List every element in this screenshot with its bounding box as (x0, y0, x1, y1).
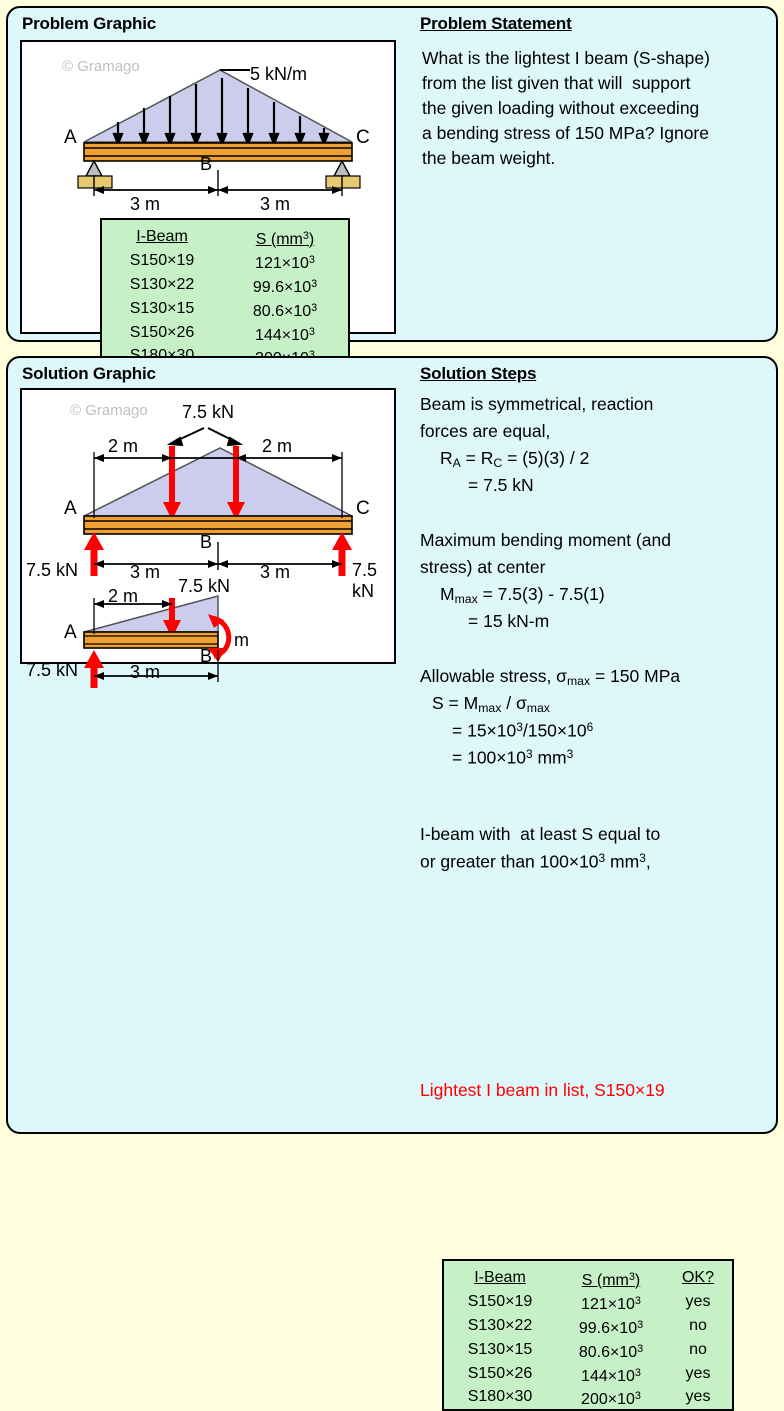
solution-panel: Solution Graphic Solution Steps © Gramag… (6, 356, 778, 1134)
solution-dim-left-3m: 3 m (130, 562, 160, 583)
solution-beam-table: I-Beam S (mm3) OK? S150×19 121×103 yes S… (442, 1259, 734, 1411)
problem-graphic-box: © Gramago (20, 40, 396, 334)
step-line-11: = 15×103/150×106 (452, 720, 593, 741)
cell-ok: yes (666, 1386, 730, 1410)
solution-dim-right-3m: 3 m (260, 562, 290, 583)
cell-s: 144×103 (222, 322, 348, 346)
cell-s: 200×103 (556, 1386, 666, 1410)
cell-ibeam: S130×22 (102, 274, 222, 298)
cell-ibeam: S150×26 (444, 1363, 556, 1387)
solution-graphic-title: Solution Graphic (22, 364, 156, 384)
step-line-3: RA = RC = (5)(3) / 2 (440, 448, 589, 470)
solution-dim-3m-2: 3 m (130, 662, 160, 683)
table-row: S130×22 99.6×103 no (444, 1315, 732, 1339)
cell-s: 99.6×103 (222, 274, 348, 298)
cell-s: 80.6×103 (556, 1339, 666, 1363)
cell-ibeam: S130×22 (444, 1315, 556, 1339)
solution-node-b-label-1: B (200, 532, 212, 553)
col-header-s: S (mm3) (556, 1267, 666, 1291)
col-header-ibeam: I-Beam (444, 1267, 556, 1291)
solution-dim-left-2m: 2 m (108, 436, 138, 457)
problem-graphic-title: Problem Graphic (22, 14, 156, 34)
table-row: S150×19 121×103 yes (444, 1291, 732, 1315)
col-header-ok: OK? (666, 1267, 730, 1291)
solution-resultant-label-1: 7.5 kN (182, 402, 234, 423)
step-line-7: Mmax = 7.5(3) - 7.5(1) (440, 584, 605, 606)
solution-node-b-label-2: B (200, 646, 212, 667)
table-row: S150×19 121×103 (102, 250, 348, 274)
problem-node-a-label: A (64, 127, 77, 149)
problem-statement-title: Problem Statement (420, 14, 572, 34)
solution-node-c-label-1: C (356, 498, 370, 520)
cell-s: 121×103 (556, 1291, 666, 1315)
step-line-10: S = Mmax / σmax (432, 693, 550, 715)
table-header-row: I-Beam S (mm3) OK? (444, 1267, 732, 1291)
cell-ibeam: S130×15 (102, 298, 222, 322)
problem-beam-table: I-Beam S (mm3) S150×19 121×103 S130×22 9… (100, 218, 350, 362)
solution-reaction-left-1: 7.5 kN (26, 560, 78, 581)
solution-force-label-2: 7.5 kN (178, 576, 230, 597)
table-row: S130×22 99.6×103 (102, 274, 348, 298)
cell-s: 99.6×103 (556, 1315, 666, 1339)
cell-s: 121×103 (222, 250, 348, 274)
cell-ok: no (666, 1315, 730, 1339)
final-answer: Lightest I beam in list, S150×19 (420, 1080, 665, 1101)
solution-steps-title: Solution Steps (420, 364, 536, 384)
table-row: S150×26 144×103 yes (444, 1363, 732, 1387)
step-line-8: = 15 kN-m (468, 611, 549, 632)
problem-statement-text: What is the lightest I beam (S-shape) fr… (422, 46, 770, 171)
cell-ok: yes (666, 1291, 730, 1315)
problem-load-label: 5 kN/m (250, 64, 307, 85)
cell-s: 80.6×103 (222, 298, 348, 322)
step-line-6: stress) at center (420, 557, 545, 578)
cell-ibeam: S130×15 (444, 1339, 556, 1363)
solution-dim-2m-2: 2 m (108, 586, 138, 607)
solution-dim-right-2m: 2 m (262, 436, 292, 457)
col-header-s: S (mm3) (222, 226, 348, 250)
table-header-row: I-Beam S (mm3) (102, 226, 348, 250)
step-line-5: Maximum bending moment (and (420, 530, 671, 551)
table-row: S150×26 144×103 (102, 322, 348, 346)
cell-s: 144×103 (556, 1363, 666, 1387)
problem-panel: Problem Graphic Problem Statement © Gram… (6, 6, 778, 342)
cell-ibeam: S180×30 (444, 1386, 556, 1410)
step-line-14: or greater than 100×103 mm3, (420, 851, 651, 872)
solution-node-a-label-1: A (64, 498, 77, 520)
solution-graphic-box: © Gramago (20, 388, 396, 664)
cell-ibeam: S150×19 (444, 1291, 556, 1315)
problem-node-b-label: B (200, 154, 212, 175)
cell-ibeam: S150×19 (102, 250, 222, 274)
step-line-4: = 7.5 kN (468, 475, 534, 496)
table-row: S180×30 200×103 yes (444, 1386, 732, 1410)
solution-node-a-label-2: A (64, 622, 77, 644)
col-header-ibeam: I-Beam (102, 226, 222, 250)
solution-reaction-left-2: 7.5 kN (26, 660, 78, 681)
step-line-1: Beam is symmetrical, reaction (420, 394, 653, 415)
table-row: S130×15 80.6×103 (102, 298, 348, 322)
cell-ibeam: S150×26 (102, 322, 222, 346)
problem-beam-diagram (22, 48, 394, 198)
cell-ok: no (666, 1339, 730, 1363)
solution-moment-label-2: m (234, 630, 249, 651)
step-line-2: forces are equal, (420, 421, 550, 442)
step-line-12: = 100×103 mm3 (452, 747, 573, 768)
problem-dim-right: 3 m (260, 194, 290, 215)
problem-dim-left: 3 m (130, 194, 160, 215)
cell-ok: yes (666, 1363, 730, 1387)
step-line-9: Allowable stress, σmax = 150 MPa (420, 666, 680, 688)
step-line-13: I-beam with at least S equal to (420, 824, 660, 845)
problem-node-c-label: C (356, 127, 370, 149)
table-row: S130×15 80.6×103 no (444, 1339, 732, 1363)
